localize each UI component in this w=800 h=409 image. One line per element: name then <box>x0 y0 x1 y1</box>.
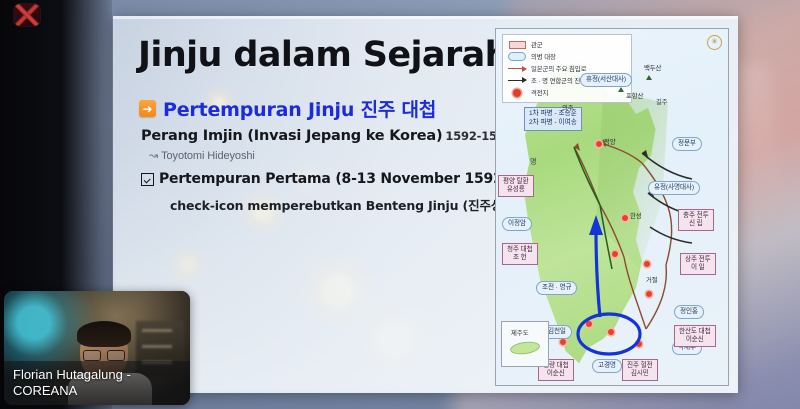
label-hyujeong: 휴정(서산대사) <box>580 73 632 87</box>
dark-arrow-icon <box>507 80 527 81</box>
legend-item: 격전지 <box>507 87 627 98</box>
box-line2: 이순신 <box>543 370 569 379</box>
map-legend: 관군 의병 대장 일본군의 주요 침입로 조 · 명 연합군의 진격로 격전지 <box>502 34 632 103</box>
box-line1: 진주 혈전 <box>627 362 653 371</box>
city-dot-busan <box>636 341 642 347</box>
city-dot-pyongyang <box>596 141 602 147</box>
box-line2: 유성룡 <box>503 186 529 195</box>
glasses-icon <box>83 350 125 359</box>
city-dot-sangju <box>644 261 650 267</box>
box-line1: 한산도 대첩 <box>679 328 711 337</box>
jeju-inset-label: 제주도 <box>511 328 529 337</box>
red-arrow-icon <box>507 68 527 69</box>
box-line2: 이순신 <box>679 336 711 345</box>
legend-item: 관군 <box>507 39 627 50</box>
sub-marker-icon: ↝ <box>149 150 158 162</box>
imjin-war-map: ✳ <box>495 28 729 386</box>
label-myeong: 명 <box>530 157 537 167</box>
city-dot-east <box>646 291 652 297</box>
box-line1: 평양 탈환 <box>503 178 529 187</box>
label-yujeong: 유정(사명대사) <box>648 181 700 195</box>
jeju-inset: 제주도 <box>501 321 549 367</box>
city-dot-myeongnyang <box>560 339 566 345</box>
participant-name: Florian Hutagalung - COREANA <box>4 367 140 400</box>
label-uiju: 의주 <box>562 105 574 113</box>
slide-title: Jinju dalam Sejarah <box>138 38 509 73</box>
slide-top-edge <box>113 16 738 19</box>
label-ijeongam: 이정암 <box>502 217 532 231</box>
check-icon: check-icon <box>170 198 243 213</box>
slide-subtitle-row: ➜ Pertempuran Jinju 진주 대첩 <box>139 95 436 122</box>
participant-name-bar: Florian Hutagalung - COREANA <box>4 361 190 405</box>
city-dot-jinju <box>608 329 614 335</box>
slide-leader-name: Toyotomi Hideyoshi <box>161 150 255 162</box>
battle-star-icon <box>507 89 527 97</box>
box-sangju-battle: 상주 전투 이 일 <box>680 253 716 275</box>
slide-war-name: Perang Imjin (Invasi Jepang ke Korea) <box>141 128 442 144</box>
jeju-island-shape <box>509 340 540 356</box>
label-jojeon: 조전 · 영규 <box>536 281 577 295</box>
mountain-icon-paekdusan <box>646 75 652 80</box>
box-line2: 신 립 <box>683 220 709 229</box>
participant-name-line2: COREANA <box>13 383 131 399</box>
oval-swatch-icon <box>507 52 527 61</box>
box-line2: 이 일 <box>685 264 711 273</box>
presentation-slide[interactable]: Jinju dalam Sejarah ➜ Pertempuran Jinju … <box>113 16 738 393</box>
label-hanseong: 한성 <box>630 213 642 221</box>
box-jinju-battle: 진주 혈전 김시민 <box>622 359 658 381</box>
legend-label: 격전지 <box>531 88 548 97</box>
box-pyongyang-recapture: 평양 탈환 유성룡 <box>498 175 534 197</box>
box-line1: 청주 대첩 <box>507 246 533 255</box>
label-jeongmunbu: 정문부 <box>672 137 702 151</box>
participant-video-tile[interactable]: Florian Hutagalung - COREANA <box>4 291 190 405</box>
box-chungju-battle: 충주 전투 신 립 <box>678 209 714 231</box>
label-gogyeongmyeong: 고경명 <box>592 359 622 373</box>
label-gilju: 길주 <box>656 99 668 107</box>
slide-leader-line: ↝Toyotomi Hideyoshi <box>149 149 255 162</box>
mountain-icon-myohyangsan <box>618 87 624 92</box>
city-dot-hanseong <box>622 215 628 221</box>
box-swatch-icon <box>507 41 527 49</box>
slide-detail-line: check-iconmemperebutkan Benteng Jinju (진… <box>170 195 508 214</box>
app-logo-icon <box>14 4 40 26</box>
city-dot-cheongju <box>612 251 618 257</box>
city-dot-namwon <box>586 321 592 327</box>
label-pyongyang: 평양 <box>604 139 616 147</box>
legend-label: 관군 <box>531 40 543 49</box>
slide-first-battle-text: Pertempuran Pertama (8-13 November 1592) <box>159 171 509 187</box>
slide-first-battle-line: Pertempuran Pertama (8-13 November 1592) <box>141 171 509 187</box>
label-jeonginhong: 정인홍 <box>674 305 704 319</box>
slide-detail-text: memperebutkan Benteng Jinju (진주성) <box>247 198 507 213</box>
box-line2: 김시민 <box>627 370 653 379</box>
legend-item: 의병 대장 <box>507 51 627 62</box>
participant-name-line1: Florian Hutagalung - <box>13 367 131 383</box>
label-gocheon: 거절 <box>646 277 658 285</box>
box-cheongju-battle: 청주 대첩 조 헌 <box>502 243 538 265</box>
box-hansando-battle: 한산도 대첩 이순신 <box>674 325 716 347</box>
slide-war-line: Perang Imjin (Invasi Jepang ke Korea)159… <box>141 128 512 144</box>
video-call-stage: Jinju dalam Sejarah ➜ Pertempuran Jinju … <box>0 0 800 409</box>
label-paekdusan: 백두산 <box>644 65 661 73</box>
deployment-note-line2: 2차 파병 - 이여송 <box>529 119 577 128</box>
box-line1: 상주 전투 <box>685 256 711 265</box>
box-line1: 충주 전투 <box>683 212 709 221</box>
box-line2: 조 헌 <box>507 254 533 263</box>
participant-hair <box>77 321 131 347</box>
legend-label: 일본군의 주요 침입로 <box>531 64 586 73</box>
checkbox-checked-icon <box>141 173 154 186</box>
arrow-right-icon: ➜ <box>139 100 156 117</box>
app-logo-mark <box>14 4 40 26</box>
label-pohangsan: 포항산 <box>626 93 643 101</box>
slide-subtitle: Pertempuran Jinju 진주 대첩 <box>163 95 436 122</box>
legend-label: 의병 대장 <box>531 52 556 61</box>
